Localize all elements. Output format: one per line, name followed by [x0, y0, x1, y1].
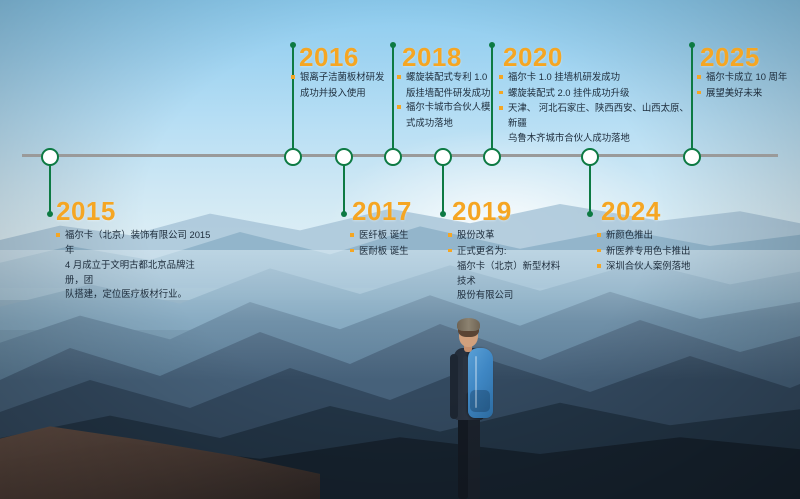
event-text-line: 福尔卡（北京）新型材料技术	[448, 259, 568, 288]
timeline-node-2016[interactable]	[284, 148, 302, 166]
year-label-2024: 2024	[601, 198, 661, 224]
event-text-line: 乌鲁木齐城市合伙人成功落地	[499, 131, 695, 146]
timeline-stem-2018	[392, 45, 394, 155]
event-bullet-item: 医耐板 诞生	[350, 244, 440, 259]
event-bullet-item: 展望美好未来	[697, 86, 797, 101]
event-bullet-item: 正式更名为:	[448, 244, 568, 259]
event-bullet-item: 福尔卡 1.0 挂墙机研发成功	[499, 70, 695, 85]
event-text-2025: 福尔卡成立 10 周年展望美好未来	[697, 70, 797, 101]
event-text-line: 股份有限公司	[448, 288, 568, 303]
event-text-line: 成功并投入使用	[291, 86, 391, 101]
event-bullet-item: 福尔卡成立 10 周年	[697, 70, 797, 85]
event-bullet-item: 螺旋装配式 2.0 挂件成功升级	[499, 86, 695, 101]
timeline-node-2019[interactable]	[434, 148, 452, 166]
timeline-node-2018[interactable]	[384, 148, 402, 166]
event-text-line: 版挂墙配件研发成功	[397, 86, 501, 101]
year-label-2020: 2020	[503, 44, 563, 70]
event-text-line: 队搭建，定位医疗板材行业。	[56, 287, 212, 302]
event-bullet-item: 银离子洁菌板材研发	[291, 70, 391, 85]
year-label-2018: 2018	[402, 44, 462, 70]
timeline-stem-dot-2018	[390, 42, 396, 48]
event-bullet-item: 螺旋装配式专利 1.0	[397, 70, 501, 85]
year-label-2019: 2019	[452, 198, 512, 224]
timeline-stem-2020	[491, 45, 493, 155]
event-bullet-item: 新颜色推出	[597, 228, 727, 243]
event-text-line: 4 月成立于文明古都北京品牌注册，团	[56, 258, 212, 287]
timeline-node-2020[interactable]	[483, 148, 501, 166]
event-bullet-item: 福尔卡城市合伙人模	[397, 100, 501, 115]
timeline-stem-dot-2019	[440, 211, 446, 217]
timeline-stem-dot-2015	[47, 211, 53, 217]
event-bullet-item: 新医养专用色卡推出	[597, 244, 727, 259]
event-text-2018: 螺旋装配式专利 1.0版挂墙配件研发成功福尔卡城市合伙人模式成功落地	[397, 70, 501, 130]
timeline-stem-dot-2016	[290, 42, 296, 48]
event-bullet-item: 福尔卡（北京）装饰有限公司 2015 年	[56, 228, 212, 257]
timeline-node-2024[interactable]	[581, 148, 599, 166]
event-text-2017: 医纤板 诞生医耐板 诞生	[350, 228, 440, 259]
timeline-infographic: 2015福尔卡（北京）装饰有限公司 2015 年4 月成立于文明古都北京品牌注册…	[0, 0, 800, 499]
timeline-stem-dot-2025	[689, 42, 695, 48]
event-text-2016: 银离子洁菌板材研发成功并投入使用	[291, 70, 391, 100]
timeline-stem-dot-2017	[341, 211, 347, 217]
event-text-line: 式成功落地	[397, 116, 501, 131]
timeline-node-2015[interactable]	[41, 148, 59, 166]
event-text-2024: 新颜色推出新医养专用色卡推出深圳合伙人案例落地	[597, 228, 727, 275]
year-label-2015: 2015	[56, 198, 116, 224]
event-bullet-item: 股份改革	[448, 228, 568, 243]
event-text-2015: 福尔卡（北京）装饰有限公司 2015 年4 月成立于文明古都北京品牌注册，团队搭…	[56, 228, 212, 302]
year-label-2016: 2016	[299, 44, 359, 70]
event-bullet-item: 深圳合伙人案例落地	[597, 259, 727, 274]
timeline-node-2017[interactable]	[335, 148, 353, 166]
event-bullet-item: 医纤板 诞生	[350, 228, 440, 243]
year-label-2025: 2025	[700, 44, 760, 70]
timeline-node-2025[interactable]	[683, 148, 701, 166]
timeline-stem-dot-2020	[489, 42, 495, 48]
event-bullet-item: 天津、 河北石家庄、陕西西安、山西太原、新疆	[499, 101, 695, 130]
timeline-stem-2025	[691, 45, 693, 155]
year-label-2017: 2017	[352, 198, 412, 224]
event-text-2020: 福尔卡 1.0 挂墙机研发成功螺旋装配式 2.0 挂件成功升级天津、 河北石家庄…	[499, 70, 695, 146]
event-text-2019: 股份改革正式更名为:福尔卡（北京）新型材料技术股份有限公司	[448, 228, 568, 303]
timeline-stem-dot-2024	[587, 211, 593, 217]
